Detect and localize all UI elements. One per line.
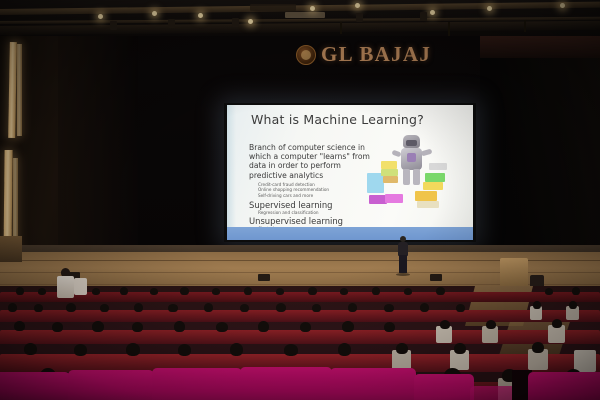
audience-head [572,287,580,295]
audience-head [92,321,104,332]
audience-head [308,287,317,295]
robot-leg-left [403,169,410,185]
stage-light-fixture [356,13,363,22]
foreground-seat [330,368,416,400]
audience-head [342,321,354,332]
projection-screen: What is Machine Learning? Branch of comp… [224,103,476,242]
ceiling-spot-light [248,19,253,24]
foreground-seat-row [0,354,600,400]
right-wall-upper-band [480,36,600,58]
stage-light-fixture [110,21,117,30]
book-shape [367,173,384,193]
audience-head [545,288,553,295]
audience-head [258,321,269,332]
slide-heading-unsupervised: Unsupervised learning [249,216,343,226]
audience-head [312,304,321,312]
audience-head [456,304,465,312]
foreground-seat [0,372,70,400]
audience-head [372,287,380,295]
audience-member-white-shirt [56,268,76,300]
venue-sign: GL BAJAJ [296,44,431,65]
audience-head [100,304,109,312]
foreground-seat [470,386,516,400]
audience-head [276,288,284,295]
audience-head [212,288,220,295]
audience-head [420,303,429,312]
presentation-slide: What is Machine Learning? Branch of comp… [227,105,473,240]
slide-heading-supervised: Supervised learning [249,200,332,210]
ceiling-spot-light [487,6,492,11]
audience-head [150,288,158,295]
audience-head [436,287,445,295]
ceiling-spot-light [560,3,565,8]
light-hanger [524,20,526,32]
audience-head [244,287,252,295]
robot-chest-panel [407,153,416,162]
slide-accent-bar [227,227,473,240]
college-crest-emblem-icon [296,45,316,65]
ceiling-spot-light [198,13,203,18]
robot-face [406,140,417,146]
book-shape [423,182,443,190]
audience-head [204,303,213,312]
book-shape [385,194,403,203]
audience-head [120,287,128,295]
audience-head [440,320,450,329]
audience-head [216,322,228,332]
audience-head [340,288,348,295]
audience-head [454,343,466,354]
stage-monitor-speaker [430,274,442,281]
stage-light-fixture [232,18,239,27]
audience-head [16,287,24,295]
audience-head [300,322,311,332]
audience-head [134,303,143,312]
audience-head [132,322,143,332]
ceiling-spot-light [98,14,103,19]
foreground-seat [414,374,474,400]
stage-light-fixture [420,12,427,21]
ceiling-spot-light [355,3,360,8]
foreground-seat [68,370,154,400]
robot-with-books-illustration [359,131,467,223]
audience-head [38,288,46,295]
stage-podium [500,258,528,288]
light-hanger [340,22,342,34]
audience-row [0,302,600,320]
robot-arm-right [421,149,433,157]
audience-head [384,304,394,312]
presenter-legs [399,255,407,273]
foreground-seat [152,368,242,400]
auditorium-photo: GL BAJAJ What is Machine Learning? Branc… [0,0,600,400]
audience-shirt [57,276,74,298]
foreground-seat [528,372,600,400]
ceiling-panel [285,12,325,18]
slide-subtext-supervised: Regression and classification [258,210,319,215]
book-shape [429,163,447,170]
audience-head [168,304,178,312]
audience-head [404,288,412,295]
audience-head [8,303,17,312]
ceiling-spot-light [152,11,157,16]
audience-head [174,321,185,332]
presenter-torso [398,242,408,256]
light-hanger [448,22,450,36]
audience-head [14,321,25,331]
book-shape [381,169,398,176]
seat-row-backs [0,292,600,302]
audience-head [533,301,541,309]
slide-title: What is Machine Learning? [251,112,424,127]
audience-row [0,286,600,302]
slide-left-gradient [227,105,236,240]
audience-head [52,322,63,332]
ceiling-spot-light [310,6,315,11]
audience-head [348,303,357,312]
presenter-shadow [396,273,410,276]
audience-head [92,288,100,295]
book-shape [383,176,398,183]
acoustic-panel-strip [17,44,22,136]
audience-head [486,320,496,329]
slide-body-text: Branch of computer science in which a co… [249,143,377,180]
venue-sign-text: GL BAJAJ [321,44,431,65]
book-shape [415,191,437,201]
stage-light-fixture [168,19,175,28]
audience-head [569,301,577,309]
book-shape [381,161,397,169]
ceiling-spot-light [430,10,435,15]
stage-side-box [0,236,22,262]
audience-paper [74,278,87,295]
presenter-on-stage [396,236,410,276]
audience-head [240,304,249,312]
audience-head [34,304,43,312]
audience-row [0,320,600,342]
book-shape [425,173,445,182]
audience-head [396,343,408,354]
audience-head [532,342,544,353]
stage-monitor-speaker [258,274,270,281]
audience-head [552,319,562,328]
foreground-seat [240,367,332,400]
audience-head [180,287,189,295]
robot-leg-right [413,169,420,185]
audience-head [276,303,286,312]
audience-head [384,322,395,332]
audience-head [66,303,76,312]
book-shape [417,201,439,208]
audience-area [0,286,600,400]
ceiling-panel [250,4,296,11]
